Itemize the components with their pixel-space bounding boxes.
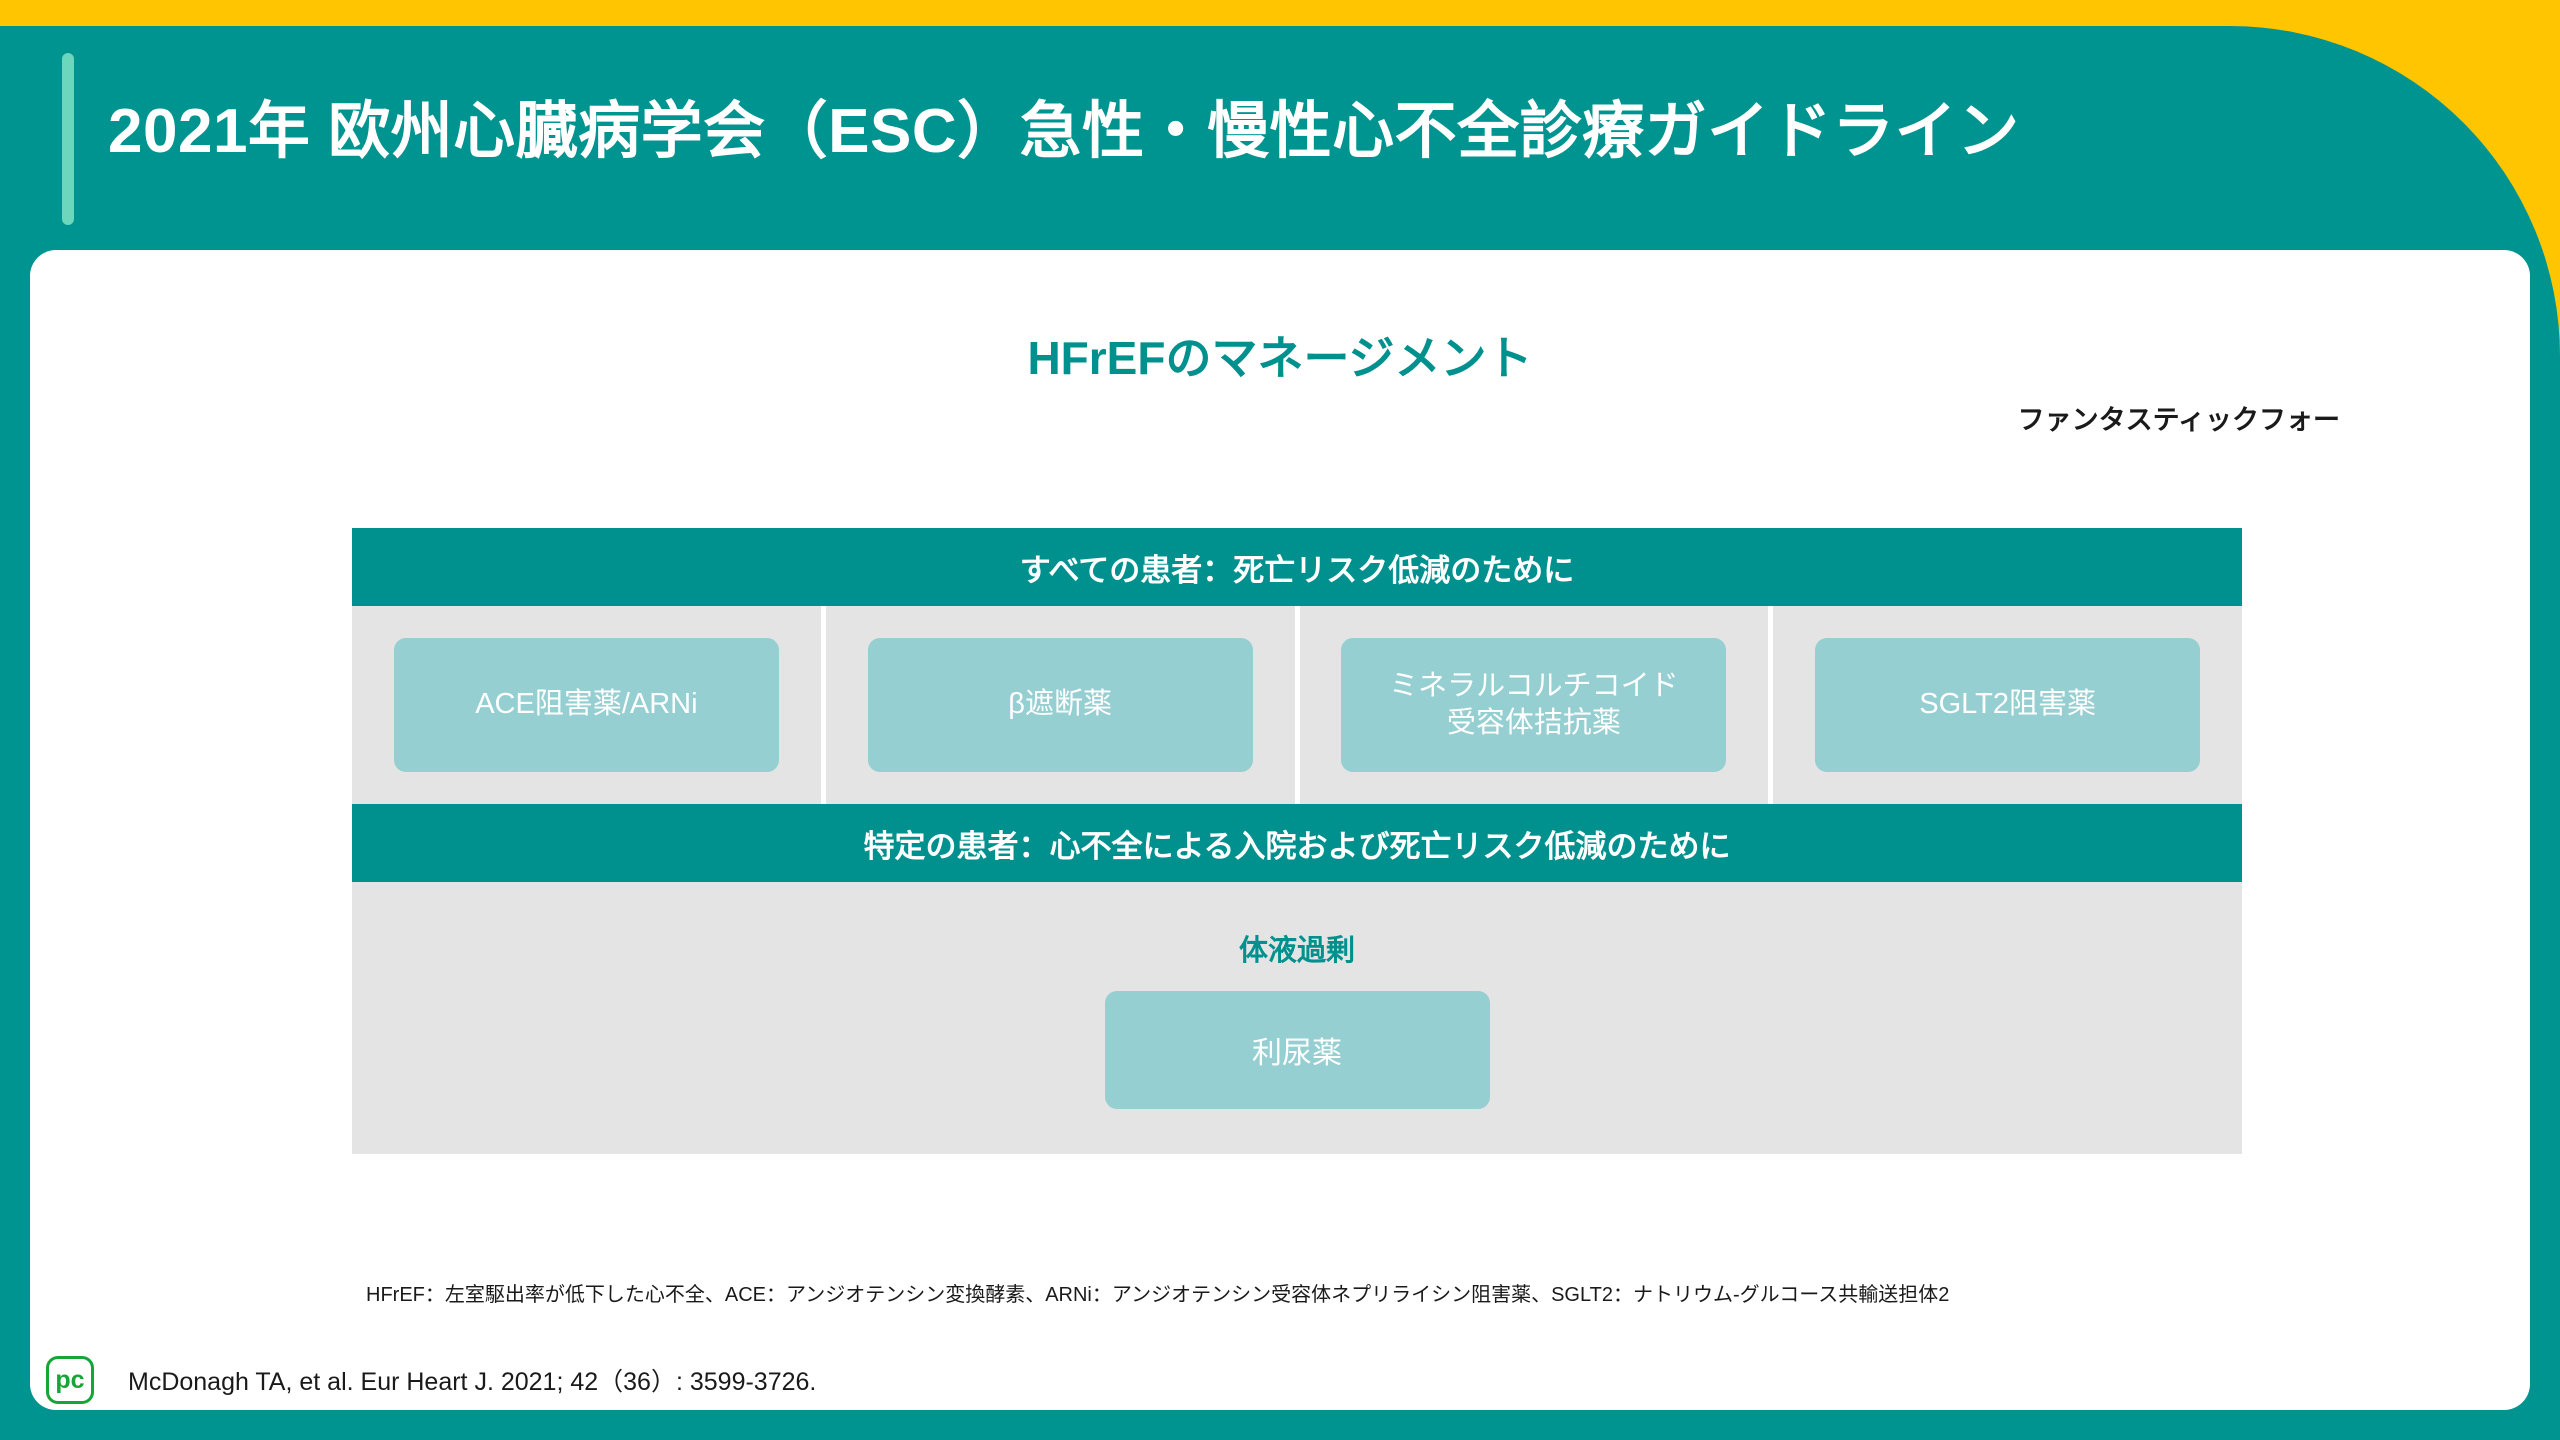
drug-box-beta-blocker[interactable]: β遮断薬: [868, 638, 1253, 772]
all-patients-body: ACE阻害薬/ARNi β遮断薬 ミネラルコルチコイド受容体拮抗薬 SGLT2阻…: [352, 606, 2242, 804]
title-accent-bar: [62, 53, 74, 225]
all-patients-block: すべての患者：死亡リスク低減のために ACE阻害薬/ARNi β遮断薬 ミネラル…: [352, 528, 2242, 804]
drug-box-diuretic[interactable]: 利尿薬: [1105, 991, 1490, 1109]
citation-text: McDonagh TA, et al. Eur Heart J. 2021; 4…: [128, 1362, 816, 1398]
slide-header: 2021年 欧州心臓病学会（ESC）急性・慢性心不全診療ガイドライン: [0, 26, 2560, 250]
specific-patients-block: 特定の患者：心不全による入院および死亡リスク低減のために 体液過剰 利尿薬: [352, 804, 2242, 1154]
drug-cell: ACE阻害薬/ARNi: [352, 606, 826, 804]
fluid-overload-body: 体液過剰 利尿薬: [352, 882, 2242, 1154]
fantastic-four-label: ファンタスティックフォー: [2018, 398, 2340, 437]
citation-row: pc McDonagh TA, et al. Eur Heart J. 2021…: [30, 1356, 816, 1404]
drug-cell: ミネラルコルチコイド受容体拮抗薬: [1300, 606, 1774, 804]
specific-patients-header: 特定の患者：心不全による入院および死亡リスク低減のために: [352, 804, 2242, 882]
pc-logo-icon: pc: [46, 1356, 94, 1404]
drug-box-mra[interactable]: ミネラルコルチコイド受容体拮抗薬: [1341, 638, 1726, 772]
all-patients-header: すべての患者：死亡リスク低減のために: [352, 528, 2242, 606]
section-title: HFrEFのマネージメント: [30, 322, 2530, 388]
fluid-overload-label: 体液過剰: [1239, 927, 1355, 969]
drug-cell: SGLT2阻害薬: [1773, 606, 2242, 804]
page-title: 2021年 欧州心臓病学会（ESC）急性・慢性心不全診療ガイドライン: [108, 80, 2020, 170]
abbreviation-footnote: HFrEF：左室駆出率が低下した心不全、ACE：アンジオテンシン変換酵素、ARN…: [366, 1278, 1949, 1307]
drug-box-sglt2[interactable]: SGLT2阻害薬: [1815, 638, 2200, 772]
drug-box-ace-arni[interactable]: ACE阻害薬/ARNi: [394, 638, 779, 772]
drug-cell: β遮断薬: [826, 606, 1300, 804]
content-card: HFrEFのマネージメント ファンタスティックフォー すべての患者：死亡リスク低…: [30, 250, 2530, 1410]
